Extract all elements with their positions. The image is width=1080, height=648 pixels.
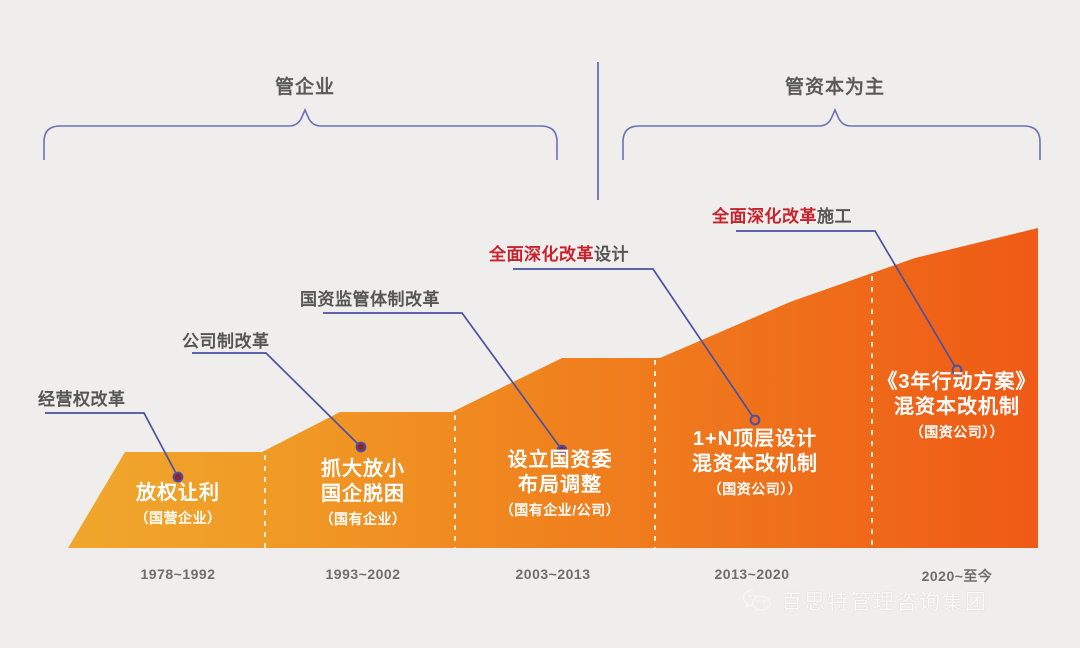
brace-caption-left: 管企业	[275, 72, 335, 99]
segment-subtitle-seg3: （国有企业/公司）	[500, 500, 620, 520]
segment-title-line-1: 设立国资委	[500, 448, 620, 473]
wechat-icon	[742, 588, 772, 614]
segment-title-line-1: 放权让利	[135, 481, 222, 506]
segment-title-line-1: 1+N顶层设计	[692, 427, 818, 452]
callout-plain-seg1: 经营权改革	[38, 390, 126, 409]
callout-plain-seg5: 施工	[817, 207, 852, 226]
callout-plain-seg4: 设计	[594, 245, 629, 264]
segment-title-line-1: 《3年行动方案》	[877, 370, 1036, 395]
brace-left	[44, 110, 557, 160]
segment-label-seg4: 1+N顶层设计 混资本改机制 （国资公司））	[692, 427, 818, 499]
callout-highlight-seg5: 全面深化改革	[712, 207, 817, 226]
date-label-seg1: 1978~1992	[141, 566, 216, 582]
segment-subtitle-seg1: （国营企业）	[135, 508, 222, 528]
brace-right	[623, 110, 1040, 160]
infographic-canvas: 管企业 管资本为主 经营权改革 公司制改革 国资监管体制改革 全面深化改革设计 …	[0, 0, 1080, 648]
callout-highlight-seg4: 全面深化改革	[489, 245, 594, 264]
chart-svg	[0, 0, 1080, 648]
brace-caption-right: 管资本为主	[785, 72, 885, 99]
callout-label-seg1: 经营权改革	[38, 385, 126, 410]
segment-label-seg1: 放权让利 （国营企业）	[135, 481, 222, 528]
callout-label-seg2: 公司制改革	[182, 327, 270, 352]
segment-title-line-1: 抓大放小	[320, 457, 407, 482]
segment-title-line-2: 混资本改机制	[877, 395, 1036, 420]
date-label-seg3: 2003~2013	[516, 566, 591, 582]
segment-subtitle-seg4: （国资公司））	[692, 479, 818, 499]
callout-label-seg3: 国资监管体制改革	[300, 285, 440, 310]
date-label-seg2: 1993~2002	[326, 566, 401, 582]
segment-title-line-2: 布局调整	[500, 473, 620, 498]
segment-subtitle-seg2: （国有企业）	[320, 509, 407, 529]
callout-plain-seg3: 国资监管体制改革	[300, 290, 440, 309]
callout-label-seg4: 全面深化改革设计	[489, 240, 629, 265]
segment-title-line-2: 混资本改机制	[692, 452, 818, 477]
segment-title-line-2: 国企脱困	[320, 482, 407, 507]
segment-subtitle-seg5: （国资公司））	[877, 422, 1036, 442]
segment-label-seg5: 《3年行动方案》 混资本改机制 （国资公司））	[877, 370, 1036, 442]
watermark-text: 百思特管理咨询集团	[781, 586, 988, 616]
date-label-seg5: 2020~至今	[922, 566, 993, 586]
callout-label-seg5: 全面深化改革施工	[712, 202, 852, 227]
date-label-seg4: 2013~2020	[715, 566, 790, 582]
segment-label-seg2: 抓大放小 国企脱困 （国有企业）	[320, 457, 407, 529]
callout-plain-seg2: 公司制改革	[182, 332, 270, 351]
segment-label-seg3: 设立国资委 布局调整 （国有企业/公司）	[500, 448, 620, 520]
watermark: 百思特管理咨询集团	[742, 586, 988, 616]
